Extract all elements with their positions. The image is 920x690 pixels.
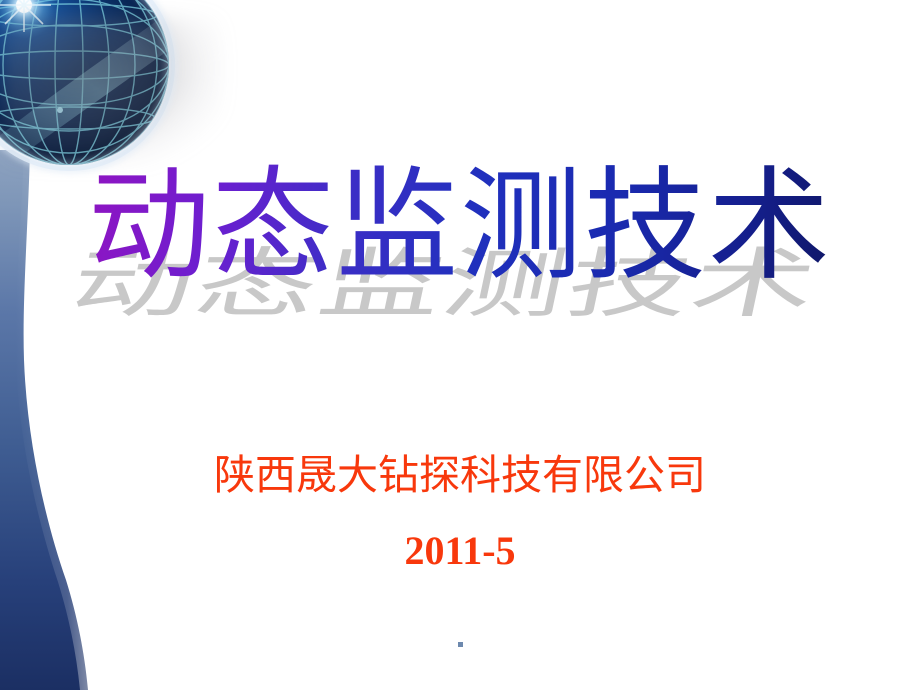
- date-label: 2011-5: [0, 524, 920, 578]
- page-title: 动态监测技术: [0, 150, 920, 305]
- globe-graphic: [0, 0, 177, 173]
- page-marker-dot: [458, 642, 463, 647]
- presentation-title-slide: 动态监测技术 动态监测技术 陕西晟大钻探科技有限公司 2011-5: [0, 0, 920, 690]
- slide-title-block: 动态监测技术 动态监测技术: [0, 150, 920, 330]
- company-name: 陕西晟大钻探科技有限公司: [0, 448, 920, 502]
